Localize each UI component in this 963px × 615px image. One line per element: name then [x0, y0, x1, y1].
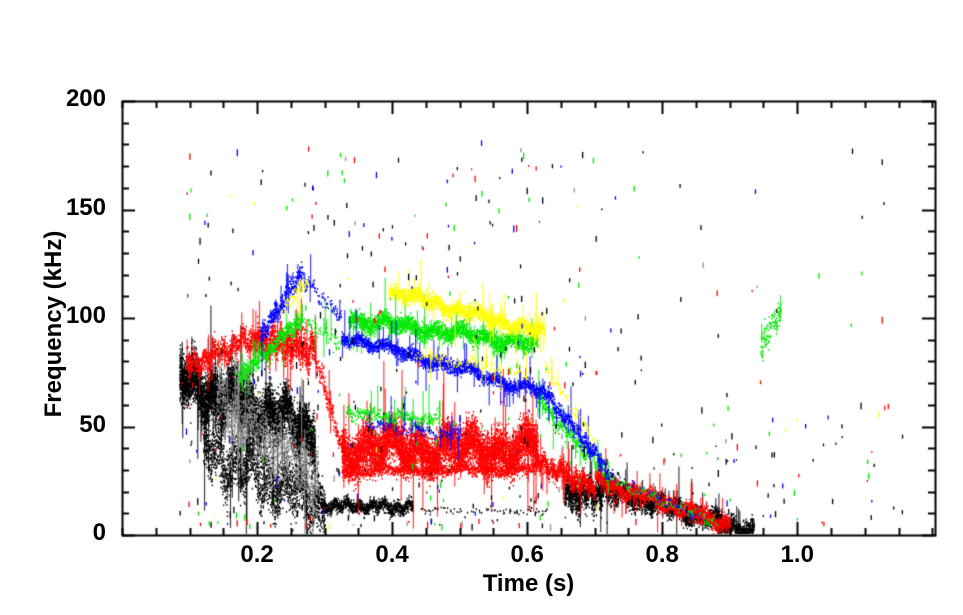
x-tick-label-0.4: 0.4	[352, 541, 432, 569]
spectrogram-figure: Shot 140402 ωB(ω) spectrum for toroidal …	[0, 0, 963, 615]
y-tick-label-150: 150	[26, 194, 106, 222]
y-tick-label-100: 100	[26, 302, 106, 330]
x-tick-label-0.8: 0.8	[622, 541, 702, 569]
y-tick-label-50: 50	[26, 411, 106, 439]
plot-canvas	[0, 0, 963, 615]
x-tick-label-0.2: 0.2	[217, 541, 297, 569]
y-tick-label-0: 0	[26, 519, 106, 547]
x-tick-label-1.0: 1.0	[757, 541, 837, 569]
x-axis-title: Time (s)	[122, 570, 935, 598]
x-tick-label-0.6: 0.6	[487, 541, 567, 569]
y-tick-label-200: 200	[26, 85, 106, 113]
